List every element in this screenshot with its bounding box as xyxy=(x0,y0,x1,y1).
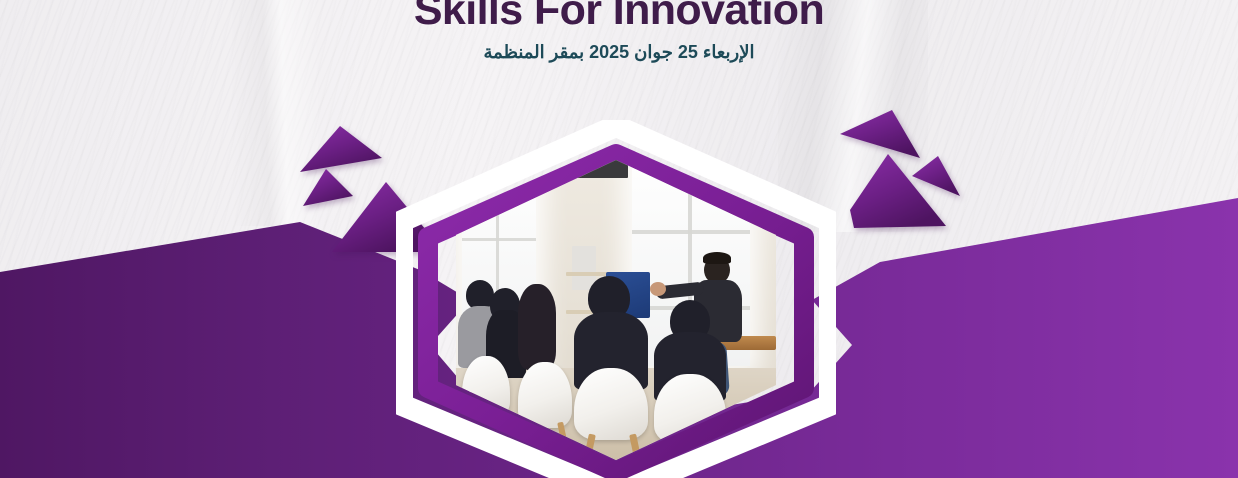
hexagon-photo-frame xyxy=(396,120,836,478)
event-date-line: الإربعاء 25 جوان 2025 بمقر المنظمة xyxy=(0,42,1238,63)
triangle-right-small-icon xyxy=(908,154,964,198)
headline-block: تطوير المهارات من أجل الابتكار Skills Fo… xyxy=(0,0,1238,63)
event-poster: تطوير المهارات من أجل الابتكار Skills Fo… xyxy=(0,0,1238,478)
page-title: Skills For Innovation xyxy=(0,0,1238,33)
